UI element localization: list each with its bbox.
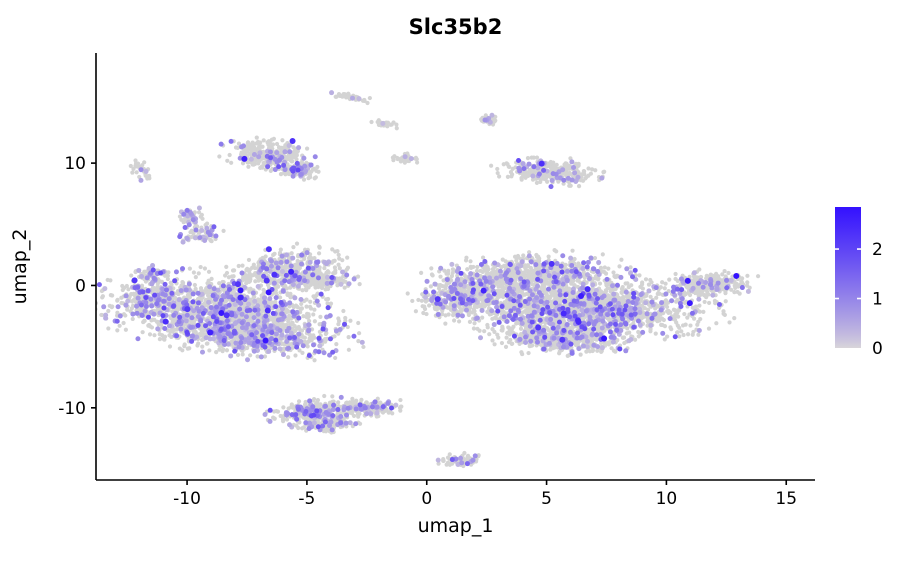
colorbar-tick-label: 1 [872,290,883,310]
chart-canvas: -10-5051015-10010umap_1umap_2Slc35b2012 [0,0,911,562]
x-tick-label: 0 [421,489,432,509]
x-tick-label: -5 [298,489,315,509]
x-tick-label: -10 [173,489,201,509]
y-tick-label: -10 [58,399,86,419]
page-title: Slc35b2 [409,15,503,39]
scatter-points [92,90,760,468]
colorbar-gradient [835,207,861,348]
colorbar-tick-label: 2 [872,240,883,260]
y-axis-label: umap_2 [9,229,31,305]
colorbar: 012 [835,207,883,359]
umap-figure: -10-5051015-10010umap_1umap_2Slc35b2012 [0,0,911,562]
x-tick-label: 5 [541,489,552,509]
colorbar-tick-label: 0 [872,339,883,359]
y-tick-label: 0 [75,276,86,296]
y-tick-label: 10 [64,154,86,174]
x-tick-label: 15 [775,489,797,509]
x-axis-label: umap_1 [418,515,494,537]
x-tick-label: 10 [656,489,678,509]
